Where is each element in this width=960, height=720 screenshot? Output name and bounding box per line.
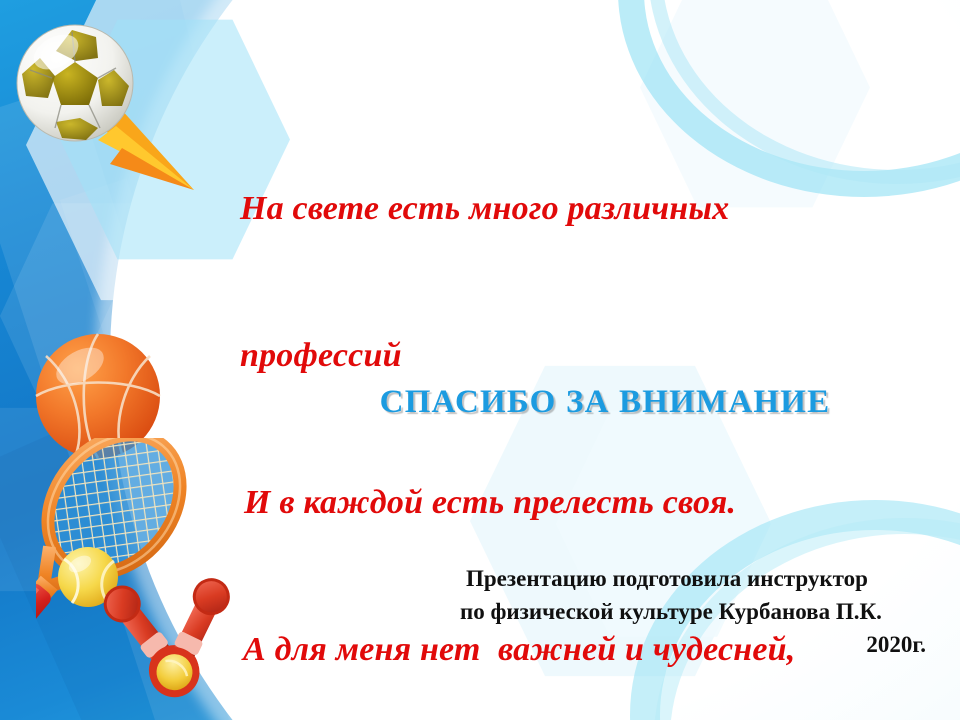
credit-line-2: по физической культуре Курбанова П.К. — [460, 595, 930, 628]
thank-you-heading: СПАСИБО ЗА ВНИМАНИЕ — [0, 384, 960, 421]
credit-block: Презентацию подготовила инструктор по фи… — [460, 562, 930, 661]
soccer-ball-icon — [10, 18, 140, 148]
poem-line-1: На свете есть много различных — [240, 184, 940, 233]
credit-line-1: Презентацию подготовила инструктор — [460, 562, 930, 595]
presentation-slide: На свете есть много различных профессий … — [0, 0, 960, 720]
poem-line-2: профессий — [240, 331, 940, 380]
credit-line-3: 2020г. — [460, 628, 930, 661]
dumbbells-icon — [96, 578, 236, 698]
poem-line-3: И в каждой есть прелесть своя. — [244, 478, 940, 527]
